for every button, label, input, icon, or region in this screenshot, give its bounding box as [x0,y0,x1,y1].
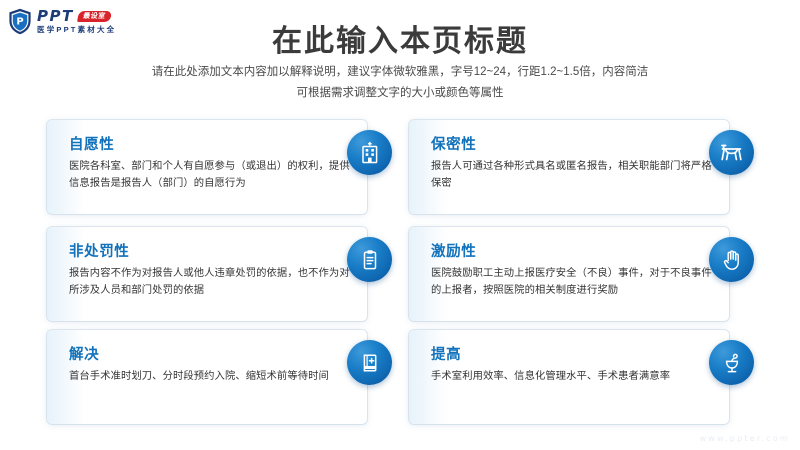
card-title: 非处罚性 [69,240,353,261]
card-item[interactable]: 解决 首台手术准时划刀、分时段预约入院、缩短术前等待时间 [47,330,392,424]
card-title: 自愿性 [69,133,353,154]
card-title: 解决 [69,343,353,364]
card-item[interactable]: 激励性 医院鼓励职工主动上报医疗安全（不良）事件，对于不良事件的上报者，按照医院… [409,227,754,321]
card-title: 提高 [431,343,715,364]
medical-book-icon [347,340,392,385]
card-panel[interactable]: 提高 手术室利用效率、信息化管理水平、手术患者满意率 [409,330,729,424]
card-title: 激励性 [431,240,715,261]
hospital-bed-icon [709,130,754,175]
card-grid: 自愿性 医院各科室、部门和个人有自愿参与（或退出）的权利，提供信息报告是报告人（… [0,112,800,422]
card-panel[interactable]: 非处罚性 报告内容不作为对报告人或他人违章处罚的依据，也不作为对所涉及人员和部门… [47,227,367,321]
card-title: 保密性 [431,133,715,154]
card-item[interactable]: 保密性 报告人可通过各种形式具名或匿名报告，相关职能部门将严格保密 [409,120,754,214]
page-title: 在此输入本页标题 [0,16,800,60]
card-panel[interactable]: 激励性 医院鼓励职工主动上报医疗安全（不良）事件，对于不良事件的上报者，按照医院… [409,227,729,321]
card-item[interactable]: 提高 手术室利用效率、信息化管理水平、手术患者满意率 [409,330,754,424]
card-panel[interactable]: 解决 首台手术准时划刀、分时段预约入院、缩短术前等待时间 [47,330,367,424]
page-subtitle: 请在此处添加文本内容加以解释说明，建议字体微软雅黑，字号12~24，行距1.2~… [0,62,800,105]
card-panel[interactable]: 自愿性 医院各科室、部门和个人有自愿参与（或退出）的权利，提供信息报告是报告人（… [47,120,367,214]
hospital-building-icon [347,130,392,175]
slide-canvas: P PPT 最设室 医学PPT素材大全 在此输入本页标题 请在此处添加文本内容加… [0,0,800,450]
card-panel[interactable]: 保密性 报告人可通过各种形式具名或匿名报告，相关职能部门将严格保密 [409,120,729,214]
subtitle-line-1: 请在此处添加文本内容加以解释说明，建议字体微软雅黑，字号12~24，行距1.2~… [0,62,800,83]
clipboard-icon [347,237,392,282]
card-body: 医院鼓励职工主动上报医疗安全（不良）事件，对于不良事件的上报者，按照医院的相关制… [431,266,713,299]
card-item[interactable]: 自愿性 医院各科室、部门和个人有自愿参与（或退出）的权利，提供信息报告是报告人（… [47,120,392,214]
card-item[interactable]: 非处罚性 报告内容不作为对报告人或他人违章处罚的依据，也不作为对所涉及人员和部门… [47,227,392,321]
raised-hand-icon [709,237,754,282]
card-body: 手术室利用效率、信息化管理水平、手术患者满意率 [431,369,713,386]
card-body: 医院各科室、部门和个人有自愿参与（或退出）的权利，提供信息报告是报告人（部门）的… [69,159,351,192]
bowl-of-hygieia-icon [709,340,754,385]
card-body: 首台手术准时划刀、分时段预约入院、缩短术前等待时间 [69,369,351,386]
card-body: 报告内容不作为对报告人或他人违章处罚的依据，也不作为对所涉及人员和部门处罚的依据 [69,266,351,299]
site-watermark: www.ppter.com [700,434,790,443]
subtitle-line-2: 可根据需求调整文字的大小或颜色等属性 [0,83,800,104]
card-body: 报告人可通过各种形式具名或匿名报告，相关职能部门将严格保密 [431,159,713,192]
